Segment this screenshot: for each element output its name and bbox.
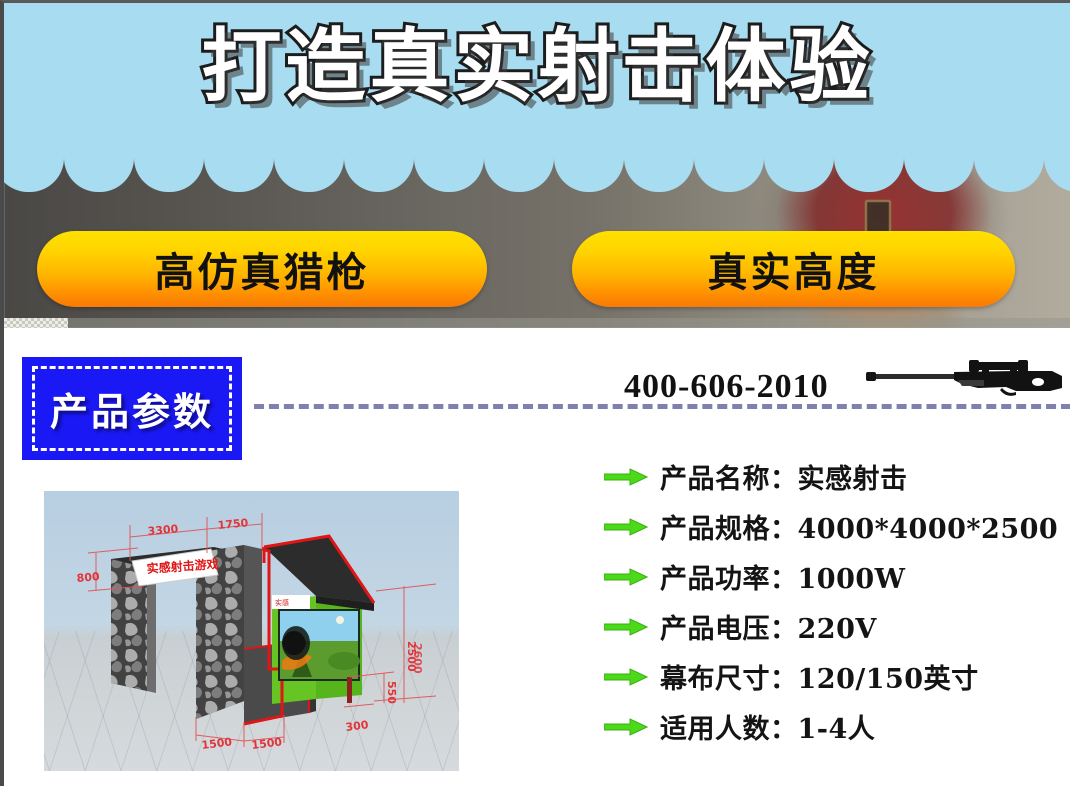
spec-list: 产品名称：实感射击 产品规格：4000*4000*2500 产品功率：1000W [604, 453, 1070, 753]
green-arrow-icon [604, 517, 648, 537]
section-badge-label: 产品参数 [50, 381, 214, 436]
section-badge: 产品参数 [22, 357, 242, 460]
spec-text: 产品功率：1000W [660, 557, 905, 596]
dim-1500-a: 1500 [201, 735, 233, 752]
dim-3300: 3300 [147, 522, 179, 538]
spec-text: 产品名称：实感射击 [660, 457, 908, 496]
spec-row: 幕布尺寸：120/150英寸 [604, 653, 1070, 700]
spec-text: 产品电压：220V [660, 607, 877, 646]
feature-pill-2[interactable]: 真实高度 [572, 231, 1015, 307]
spec-text: 产品规格：4000*4000*2500 [660, 507, 1058, 546]
green-arrow-icon [604, 667, 648, 687]
dim-1750: 1750 [217, 516, 249, 532]
product-diagram: 实感射击游戏 [44, 491, 459, 771]
dim-300: 300 [345, 718, 370, 734]
booth-3d-drawing: 实感射击游戏 [44, 491, 459, 771]
green-arrow-icon [604, 617, 648, 637]
hero-banner: 打造真实射击体验 高仿真猎枪 真实高度 [4, 3, 1070, 328]
dim-2600: 2600 [411, 643, 424, 674]
dim-1500-b: 1500 [251, 735, 283, 752]
spec-row: 产品规格：4000*4000*2500 [604, 503, 1070, 550]
green-arrow-icon [604, 567, 648, 587]
green-arrow-icon [604, 467, 648, 487]
green-arrow-icon [604, 717, 648, 737]
svg-text:实感: 实感 [275, 598, 289, 607]
spec-text: 适用人数：1-4人 [660, 707, 875, 746]
scalloped-edge [4, 158, 1070, 192]
spec-text: 幕布尺寸：120/150英寸 [660, 657, 979, 696]
feature-pill-1[interactable]: 高仿真猎枪 [37, 231, 487, 307]
dim-800: 800 [76, 570, 100, 585]
phone-number[interactable]: 400-606-2010 [624, 368, 829, 406]
feature-pill-1-label: 高仿真猎枪 [155, 240, 370, 298]
spec-row: 产品名称：实感射击 [604, 453, 1070, 500]
dim-550: 550 [385, 681, 398, 704]
spec-row: 适用人数：1-4人 [604, 703, 1070, 750]
feature-pill-2-label: 真实高度 [708, 240, 880, 298]
cap-badge-icon [865, 200, 891, 234]
page-title: 打造真实射击体验 [4, 25, 1070, 109]
page-root: 打造真实射击体验 高仿真猎枪 真实高度 产品参数 400-606-2 [0, 0, 1070, 786]
spec-row: 产品功率：1000W [604, 553, 1070, 600]
spec-row: 产品电压：220V [604, 603, 1070, 650]
sniper-rifle-icon [866, 358, 1066, 398]
banner-bottom-strip [4, 318, 1070, 328]
